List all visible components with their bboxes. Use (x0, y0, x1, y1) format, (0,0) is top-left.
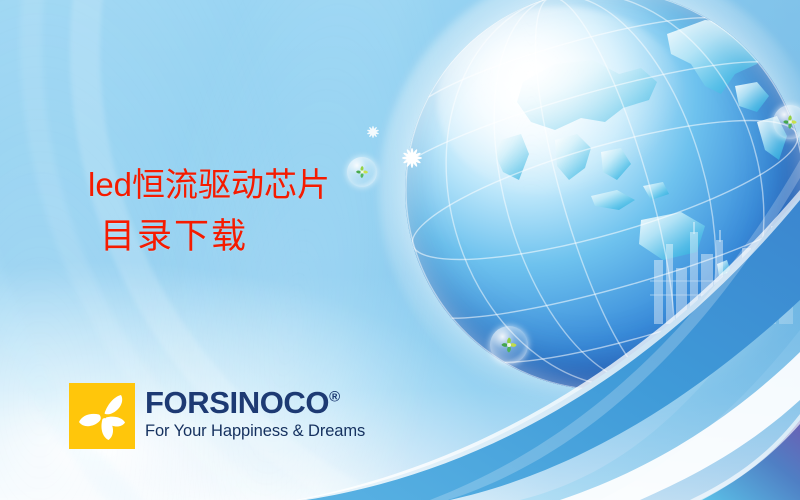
headline-cjk: 恒流驱动芯片 (132, 168, 330, 204)
logo-name-word: FORSINOCO (145, 385, 329, 420)
logo-mark (69, 383, 135, 449)
banner-canvas: led恒流驱动芯片 目录下载 FORSINOCO® For Your Happ (0, 0, 800, 500)
green-pinwheel-icon (499, 335, 519, 355)
company-logo: FORSINOCO® For Your Happiness & Dreams (69, 383, 365, 449)
logo-text-block: FORSINOCO® For Your Happiness & Dreams (145, 383, 365, 441)
logo-company-name: FORSINOCO® (145, 387, 365, 418)
flower-sparkle-large (399, 145, 425, 171)
headline-line-1: led恒流驱动芯片 (88, 166, 330, 205)
headline-text: led恒流驱动芯片 目录下载 (88, 166, 330, 258)
headline-latin: led (88, 166, 132, 203)
bubble-pinwheel-left (347, 157, 377, 187)
registered-trademark-icon: ® (329, 389, 340, 406)
green-pinwheel-icon (781, 113, 799, 131)
green-pinwheel-icon (354, 164, 370, 180)
four-petal-pinwheel-icon (69, 383, 135, 449)
bubble-pinwheel-lower (490, 326, 528, 364)
headline-line-2: 目录下载 (100, 217, 330, 258)
flower-sparkle-small (365, 124, 381, 140)
bubble-pinwheel-right (773, 105, 800, 139)
logo-tagline: For Your Happiness & Dreams (145, 422, 365, 441)
